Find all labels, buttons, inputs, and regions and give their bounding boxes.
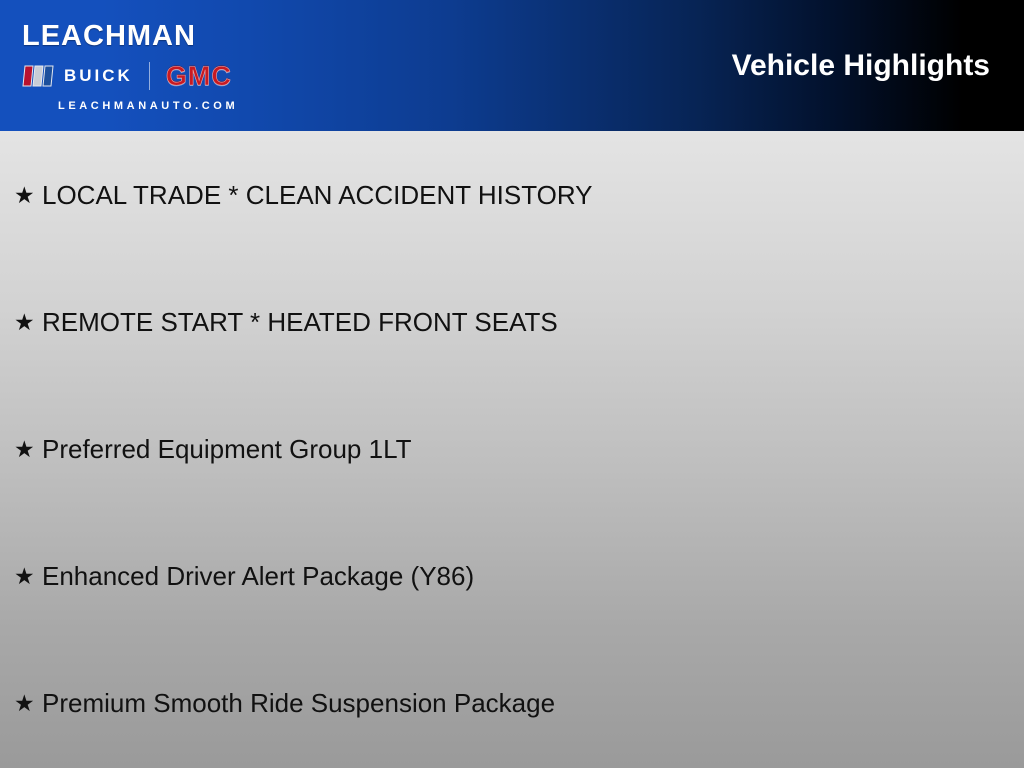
- vehicle-highlights-list: ★ LOCAL TRADE * CLEAN ACCIDENT HISTORY ★…: [0, 131, 1024, 768]
- buick-trishield-icon: [22, 64, 56, 88]
- dealer-website-url[interactable]: LEACHMANAUTO.COM: [58, 99, 290, 113]
- star-bullet-icon: ★: [14, 435, 42, 463]
- list-item: ★ Premium Smooth Ride Suspension Package: [0, 685, 1024, 721]
- buick-brand-label: BUICK: [64, 66, 133, 86]
- star-bullet-icon: ★: [14, 689, 42, 717]
- list-item: ★ Preferred Equipment Group 1LT: [0, 431, 1024, 467]
- highlight-label: Preferred Equipment Group 1LT: [42, 434, 411, 464]
- star-bullet-icon: ★: [14, 181, 42, 209]
- list-item: ★ REMOTE START * HEATED FRONT SEATS: [0, 304, 1024, 340]
- brand-row: BUICK GMC: [22, 60, 290, 92]
- brand-divider: [149, 62, 150, 90]
- list-item: ★ Enhanced Driver Alert Package (Y86): [0, 558, 1024, 594]
- star-bullet-icon: ★: [14, 308, 42, 336]
- page-title: Vehicle Highlights: [732, 49, 990, 83]
- highlight-label: REMOTE START * HEATED FRONT SEATS: [42, 307, 558, 337]
- highlight-label: Enhanced Driver Alert Package (Y86): [42, 561, 474, 591]
- page-header: LEACHMAN BUICK GMC LEACHMANAUTO.COM: [0, 0, 1024, 131]
- star-bullet-icon: ★: [14, 562, 42, 590]
- vehicle-highlights-page: LEACHMAN BUICK GMC LEACHMANAUTO.COM: [0, 0, 1024, 768]
- gmc-brand-label: GMC: [166, 62, 232, 90]
- dealer-logo[interactable]: LEACHMAN BUICK GMC LEACHMANAUTO.COM: [22, 8, 290, 126]
- dealer-name-wordmark: LEACHMAN: [22, 8, 290, 54]
- highlight-label: Premium Smooth Ride Suspension Package: [42, 688, 555, 718]
- list-item: ★ LOCAL TRADE * CLEAN ACCIDENT HISTORY: [0, 177, 1024, 213]
- highlight-label: LOCAL TRADE * CLEAN ACCIDENT HISTORY: [42, 180, 593, 210]
